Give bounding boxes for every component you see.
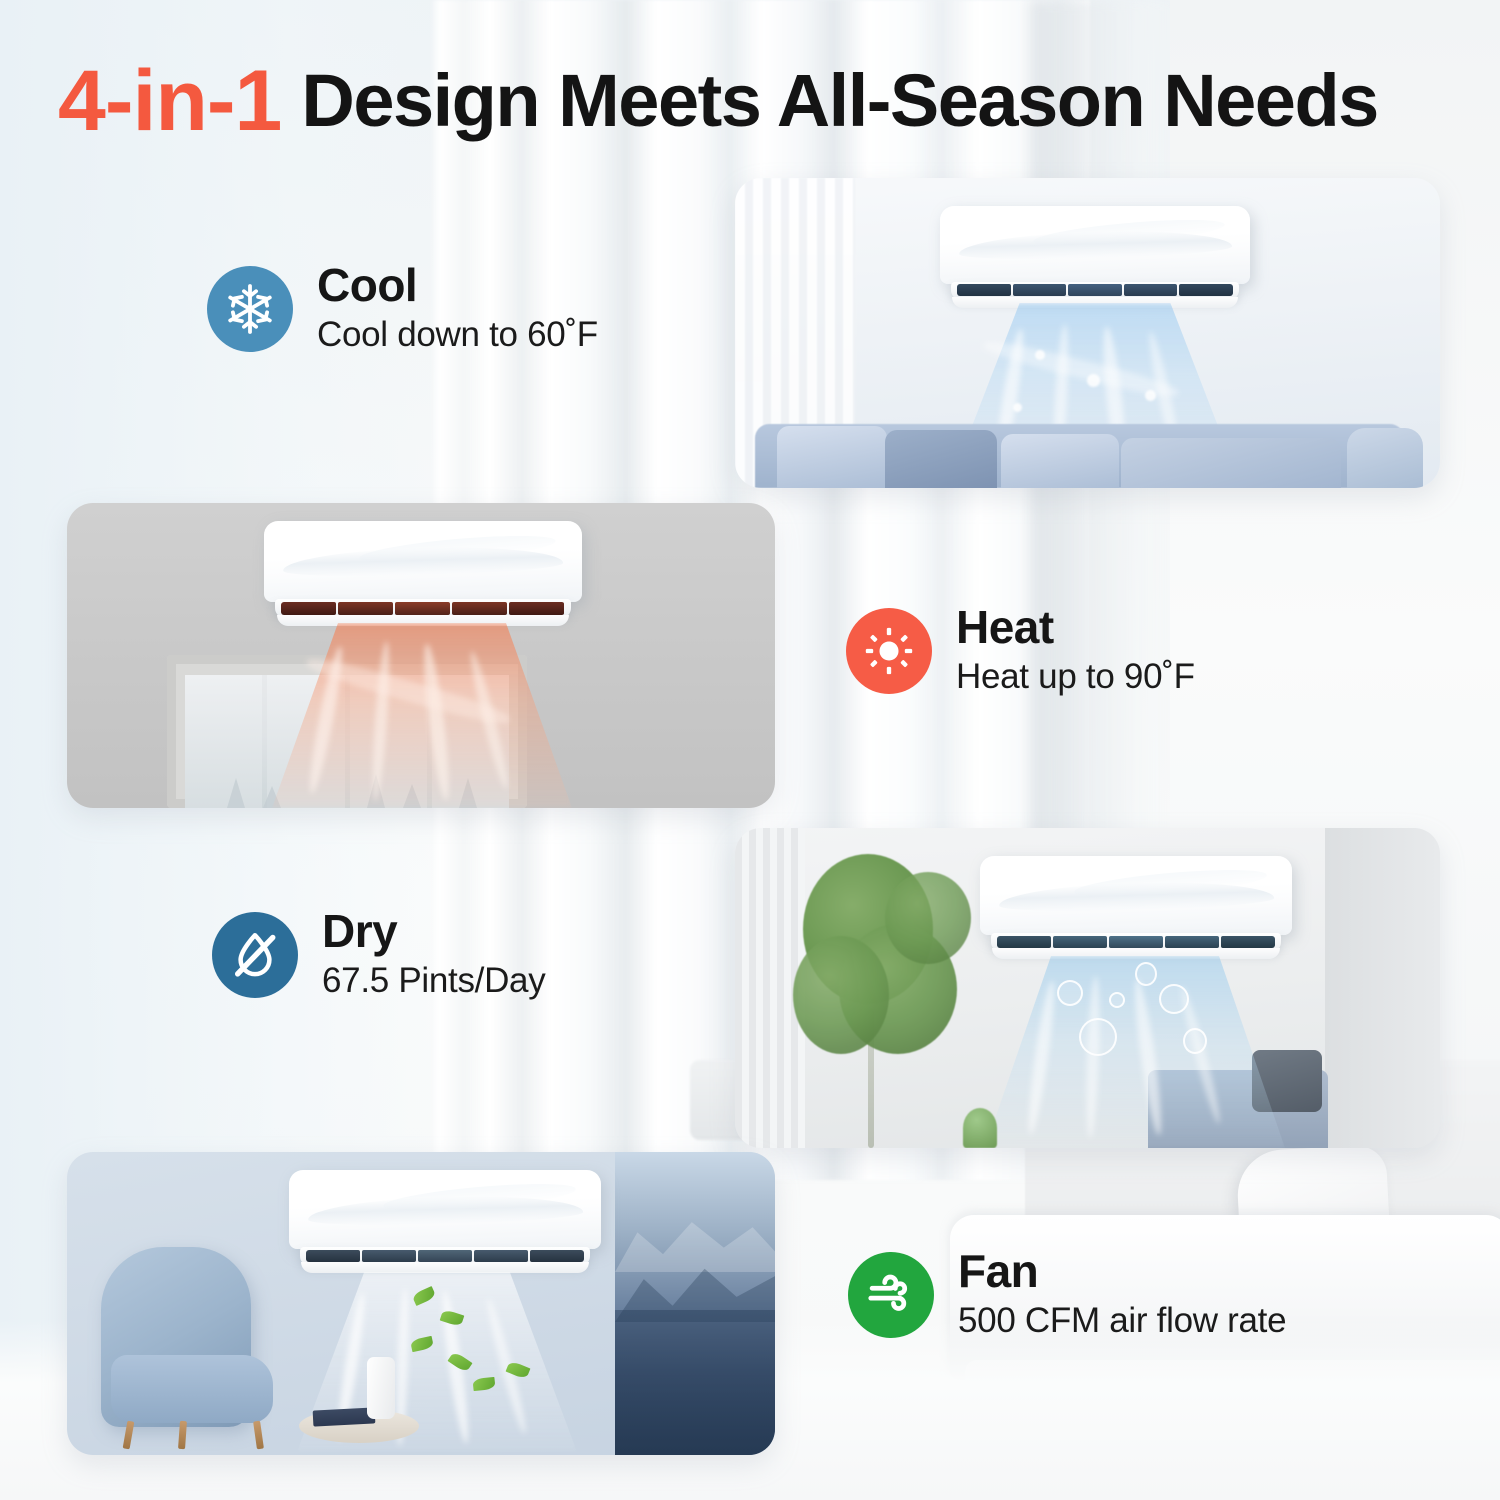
fan-window-mountain-view	[615, 1152, 775, 1455]
snowflake-icon	[207, 266, 293, 352]
ac-body	[289, 1170, 601, 1249]
feature-fan-text: Fan 500 CFM air flow rate	[958, 1248, 1286, 1343]
ac-body	[264, 521, 582, 602]
panel-dry-photo	[735, 828, 1440, 1148]
dry-tree-foliage	[885, 872, 971, 964]
headline-highlight: 4-in-1	[58, 53, 281, 149]
feature-cool: Cool Cool down to 60˚F	[207, 262, 598, 357]
fan-book	[313, 1407, 376, 1426]
ac-louver	[957, 284, 1233, 296]
feature-dry: Dry 67.5 Pints/Day	[212, 908, 545, 1003]
wind-icon	[848, 1252, 934, 1338]
snow-particle	[1035, 350, 1045, 360]
snow-particle	[1145, 390, 1156, 401]
feature-dry-subtitle: 67.5 Pints/Day	[322, 959, 545, 1003]
feature-fan-title: Fan	[958, 1248, 1286, 1295]
feature-cool-title: Cool	[317, 262, 598, 309]
dry-small-plant	[963, 1108, 997, 1148]
ac-wave	[958, 229, 1231, 263]
fan-humidifier	[367, 1357, 395, 1419]
fan-chair-leg	[178, 1421, 187, 1449]
moisture-bubble	[1135, 962, 1157, 986]
feature-dry-text: Dry 67.5 Pints/Day	[322, 908, 545, 1003]
ac-louver	[306, 1250, 584, 1262]
ac-unit-cool	[940, 206, 1250, 314]
fan-chair-leg	[253, 1421, 264, 1450]
ac-bottom-edge	[301, 1262, 588, 1273]
ac-unit-heat	[264, 521, 582, 633]
feature-heat-subtitle: Heat up to 90˚F	[956, 655, 1195, 699]
feature-cool-subtitle: Cool down to 60˚F	[317, 313, 598, 357]
cool-cushion	[777, 426, 887, 488]
cool-cushion	[1121, 438, 1341, 488]
feature-cool-text: Cool Cool down to 60˚F	[317, 262, 598, 357]
ac-louver	[997, 936, 1275, 948]
cool-sofa-arm	[1347, 428, 1423, 488]
feature-heat: Heat Heat up to 90˚F	[846, 604, 1195, 699]
moisture-bubble	[1057, 980, 1083, 1006]
cool-cushion	[885, 430, 997, 488]
ac-unit-fan	[289, 1170, 601, 1280]
dry-right-wall	[1325, 828, 1440, 1148]
fan-armchair-seat	[111, 1355, 273, 1423]
headline-rest: Design Meets All-Season Needs	[301, 59, 1377, 142]
moisture-bubble	[1159, 984, 1189, 1014]
ac-body	[940, 206, 1250, 284]
ac-wave	[283, 545, 563, 580]
ac-unit-dry	[980, 856, 1292, 966]
panel-heat-photo	[67, 503, 775, 808]
feature-fan-subtitle: 500 CFM air flow rate	[958, 1299, 1286, 1343]
feature-dry-title: Dry	[322, 908, 545, 955]
moisture-bubble	[1109, 992, 1125, 1008]
snow-particle	[1013, 403, 1022, 412]
feature-heat-text: Heat Heat up to 90˚F	[956, 604, 1195, 699]
water-drop-slash-icon	[212, 912, 298, 998]
page-title: 4-in-1Design Meets All-Season Needs	[58, 52, 1378, 151]
dry-tree-foliage	[793, 936, 889, 1054]
ac-louver	[281, 602, 564, 614]
ac-body	[980, 856, 1292, 935]
moisture-bubble	[1183, 1028, 1207, 1054]
feature-fan: Fan 500 CFM air flow rate	[848, 1248, 1286, 1343]
feature-heat-title: Heat	[956, 604, 1195, 651]
panel-fan-photo	[67, 1152, 775, 1455]
sun-icon	[846, 608, 932, 694]
moisture-bubble	[1079, 1018, 1117, 1056]
panel-cool-photo	[735, 178, 1440, 488]
cool-cushion	[1001, 434, 1119, 488]
snow-particle	[1087, 374, 1100, 387]
